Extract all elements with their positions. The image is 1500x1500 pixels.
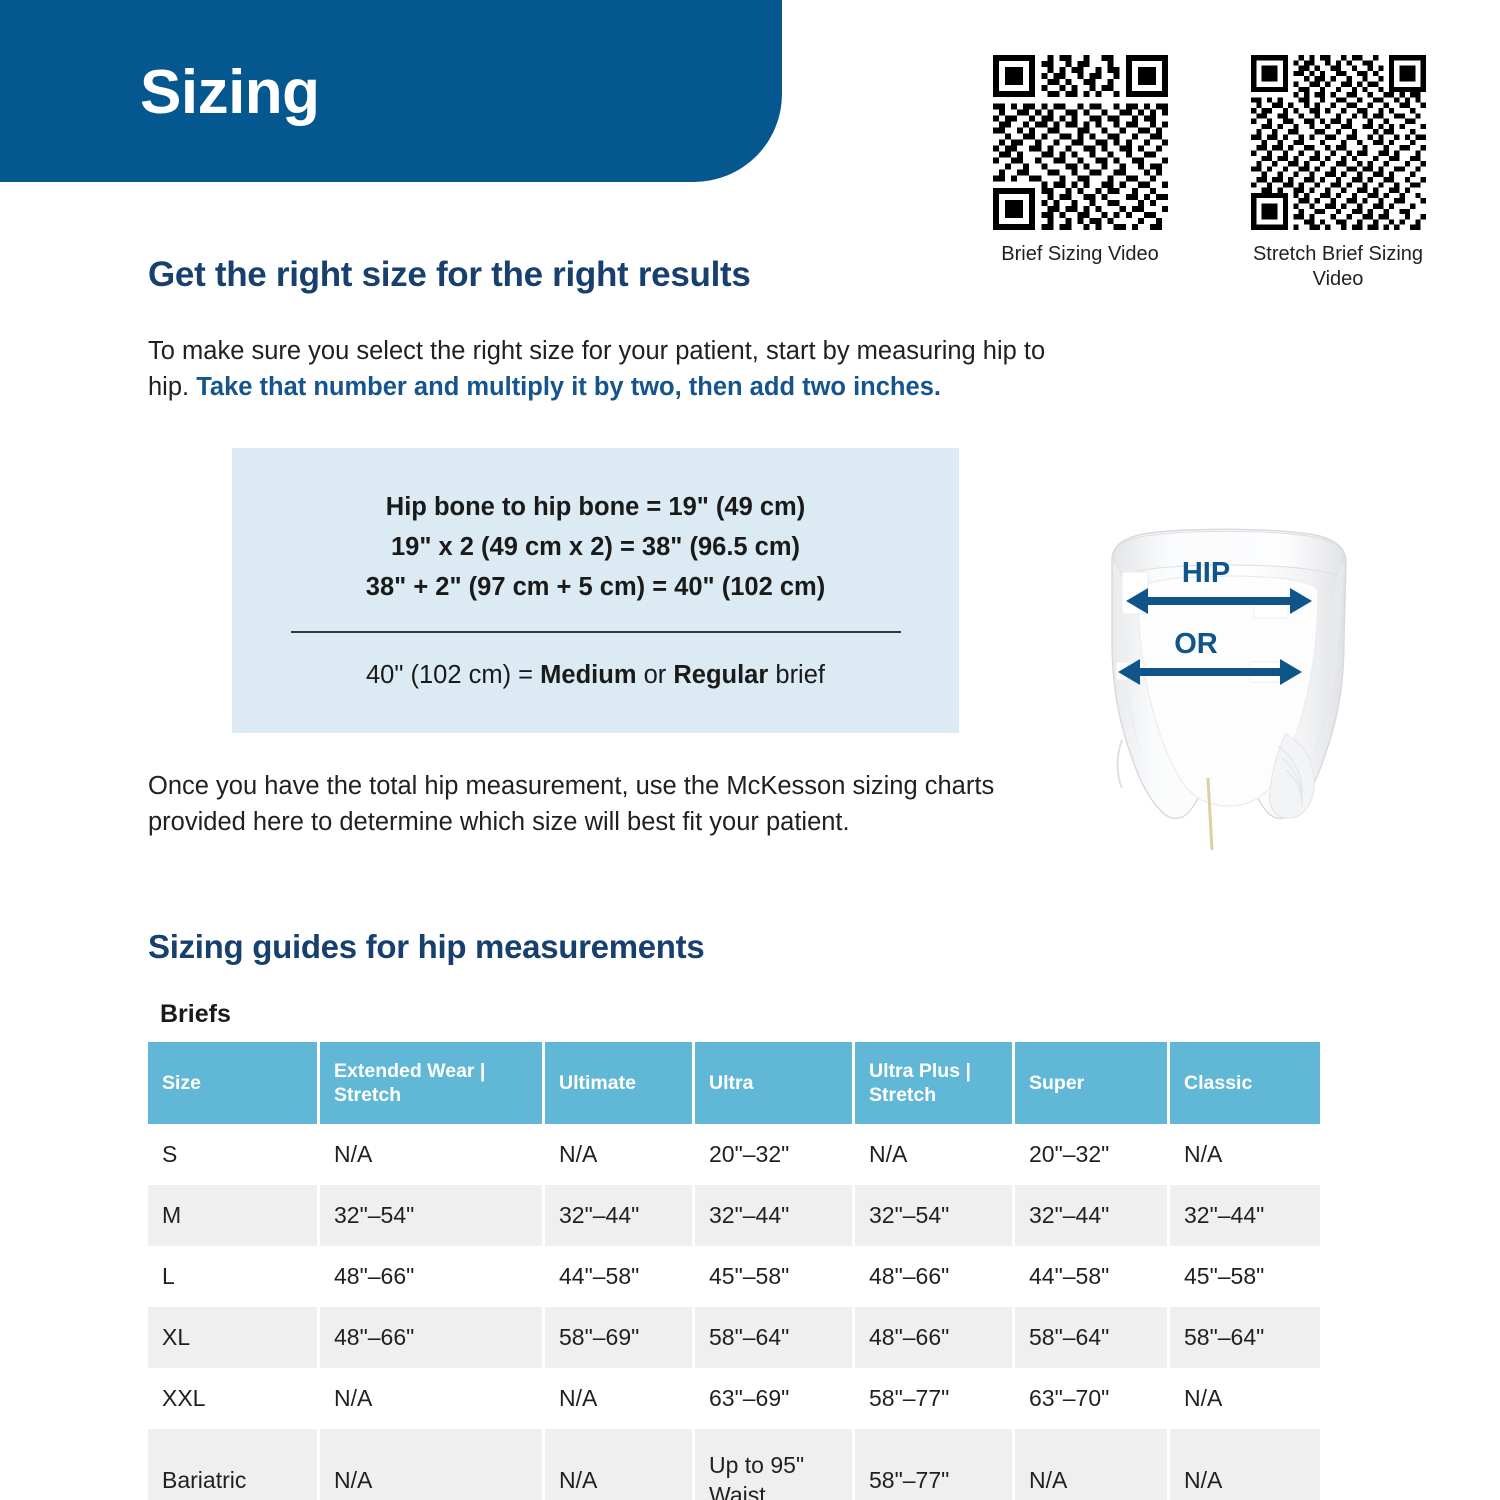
intro-paragraph: To make sure you select the right size f… bbox=[148, 333, 1078, 405]
calc-result-suffix: brief bbox=[768, 661, 825, 689]
cell-extended-wear: 48"–66" bbox=[320, 1307, 545, 1368]
brief-product-image: HIP OR bbox=[1078, 520, 1378, 900]
column-header-ultra: Ultra bbox=[695, 1042, 855, 1124]
cell-ultra-plus: 58"–77" bbox=[855, 1429, 1015, 1500]
or-label: OR bbox=[1174, 628, 1218, 660]
cell-ultimate: N/A bbox=[545, 1124, 695, 1185]
calc-line-2: 19" x 2 (49 cm x 2) = 38" (96.5 cm) bbox=[232, 528, 959, 568]
cell-size: L bbox=[148, 1246, 320, 1307]
cell-ultimate: 32"–44" bbox=[545, 1185, 695, 1246]
calc-line-1: Hip bone to hip bone = 19" (49 cm) bbox=[232, 488, 959, 528]
table-row: S N/A N/A 20"–32" N/A 20"–32" N/A bbox=[148, 1124, 1320, 1185]
calc-result-conjunction: or bbox=[637, 661, 674, 689]
cell-ultimate: 44"–58" bbox=[545, 1246, 695, 1307]
cell-ultra-plus: 48"–66" bbox=[855, 1307, 1015, 1368]
cell-extended-wear: N/A bbox=[320, 1124, 545, 1185]
cell-super: 20"–32" bbox=[1015, 1124, 1170, 1185]
header-banner: Sizing bbox=[0, 0, 782, 182]
table-row: Bariatric N/A N/A Up to 95" Waist 58"–77… bbox=[148, 1429, 1320, 1500]
cell-classic: N/A bbox=[1170, 1124, 1320, 1185]
cell-classic: 32"–44" bbox=[1170, 1185, 1320, 1246]
qr-code-icon bbox=[993, 55, 1168, 230]
cell-size: S bbox=[148, 1124, 320, 1185]
cell-size: XXL bbox=[148, 1368, 320, 1429]
calc-divider bbox=[291, 631, 901, 633]
cell-ultra-plus: 32"–54" bbox=[855, 1185, 1015, 1246]
calc-result-line: 40" (102 cm) = Medium or Regular brief bbox=[232, 661, 959, 690]
hip-label: HIP bbox=[1182, 557, 1230, 589]
column-header-classic-line1: Classic bbox=[1184, 1072, 1252, 1094]
section-heading-get-right-size: Get the right size for the right results bbox=[148, 255, 751, 295]
column-header-extended-wear-line2: Stretch bbox=[334, 1084, 401, 1106]
column-header-super-line1: Super bbox=[1029, 1072, 1084, 1094]
cell-extended-wear: N/A bbox=[320, 1429, 545, 1500]
cell-ultra: 63"–69" bbox=[695, 1368, 855, 1429]
cell-super: 44"–58" bbox=[1015, 1246, 1170, 1307]
brief-leg-elastic-left bbox=[1118, 740, 1123, 788]
qr-block-brief-sizing-video[interactable]: Brief Sizing Video bbox=[985, 55, 1175, 292]
table-header-row: Size Extended Wear |Stretch Ultimate Ult… bbox=[148, 1042, 1320, 1124]
column-header-ultra-plus: Ultra Plus |Stretch bbox=[855, 1042, 1015, 1124]
cell-super: N/A bbox=[1015, 1429, 1170, 1500]
cell-ultimate: N/A bbox=[545, 1368, 695, 1429]
calc-result-size-medium: Medium bbox=[540, 661, 636, 689]
intro-paragraph-accent: Take that number and multiply it by two,… bbox=[196, 373, 941, 401]
column-header-size: Size bbox=[148, 1042, 320, 1124]
calc-result-size-regular: Regular bbox=[673, 661, 768, 689]
column-header-super: Super bbox=[1015, 1042, 1170, 1124]
cell-size: Bariatric bbox=[148, 1429, 320, 1500]
cell-ultra-plus: N/A bbox=[855, 1124, 1015, 1185]
table-row: XL 48"–66" 58"–69" 58"–64" 48"–66" 58"–6… bbox=[148, 1307, 1320, 1368]
column-header-extended-wear-line1: Extended Wear | bbox=[334, 1060, 485, 1082]
column-header-ultra-plus-line1: Ultra Plus | bbox=[869, 1060, 971, 1082]
column-header-classic: Classic bbox=[1170, 1042, 1320, 1124]
product-brief-illustration: HIP OR bbox=[1078, 520, 1378, 900]
table-row: M 32"–54" 32"–44" 32"–44" 32"–54" 32"–44… bbox=[148, 1185, 1320, 1246]
cell-super: 63"–70" bbox=[1015, 1368, 1170, 1429]
section-heading-sizing-guides: Sizing guides for hip measurements bbox=[148, 928, 704, 966]
body-paragraph: Once you have the total hip measurement,… bbox=[148, 768, 1028, 840]
cell-ultra: 45"–58" bbox=[695, 1246, 855, 1307]
calc-line-3: 38" + 2" (97 cm + 5 cm) = 40" (102 cm) bbox=[232, 568, 959, 608]
column-header-ultimate: Ultimate bbox=[545, 1042, 695, 1124]
cell-size: M bbox=[148, 1185, 320, 1246]
cell-ultimate: 58"–69" bbox=[545, 1307, 695, 1368]
cell-ultra: 58"–64" bbox=[695, 1307, 855, 1368]
cell-super: 58"–64" bbox=[1015, 1307, 1170, 1368]
cell-extended-wear: 48"–66" bbox=[320, 1246, 545, 1307]
cell-ultra-plus: 48"–66" bbox=[855, 1246, 1015, 1307]
column-header-size-line1: Size bbox=[162, 1072, 201, 1094]
calc-result-prefix: 40" (102 cm) = bbox=[366, 661, 540, 689]
qr-code-icon bbox=[1251, 55, 1426, 230]
table-label-briefs: Briefs bbox=[160, 1000, 231, 1029]
qr-caption: Brief Sizing Video bbox=[1001, 242, 1159, 267]
cell-ultra: Up to 95" Waist bbox=[695, 1429, 855, 1500]
table-row: XXL N/A N/A 63"–69" 58"–77" 63"–70" N/A bbox=[148, 1368, 1320, 1429]
cell-ultimate: N/A bbox=[545, 1429, 695, 1500]
column-header-ultra-plus-line2: Stretch bbox=[869, 1084, 936, 1106]
sizing-guide-page: Sizing bbox=[0, 0, 1500, 1500]
cell-ultra-plus: 58"–77" bbox=[855, 1368, 1015, 1429]
column-header-extended-wear: Extended Wear |Stretch bbox=[320, 1042, 545, 1124]
cell-extended-wear: N/A bbox=[320, 1368, 545, 1429]
cell-classic: N/A bbox=[1170, 1368, 1320, 1429]
table-body: S N/A N/A 20"–32" N/A 20"–32" N/A M 32"–… bbox=[148, 1124, 1320, 1500]
qr-block-stretch-brief-sizing-video[interactable]: Stretch Brief Sizing Video bbox=[1243, 55, 1433, 292]
briefs-sizing-table: Size Extended Wear |Stretch Ultimate Ult… bbox=[148, 1042, 1320, 1500]
page-title: Sizing bbox=[140, 62, 320, 124]
cell-classic: 45"–58" bbox=[1170, 1246, 1320, 1307]
cell-extended-wear: 32"–54" bbox=[320, 1185, 545, 1246]
calculation-example-box: Hip bone to hip bone = 19" (49 cm) 19" x… bbox=[232, 448, 959, 733]
column-header-ultra-line1: Ultra bbox=[709, 1072, 753, 1094]
cell-super: 32"–44" bbox=[1015, 1185, 1170, 1246]
qr-code-group: Brief Sizing Video bbox=[985, 55, 1465, 292]
cell-classic: 58"–64" bbox=[1170, 1307, 1320, 1368]
cell-classic: N/A bbox=[1170, 1429, 1320, 1500]
cell-ultra: 20"–32" bbox=[695, 1124, 855, 1185]
table-header: Size Extended Wear |Stretch Ultimate Ult… bbox=[148, 1042, 1320, 1124]
table-row: L 48"–66" 44"–58" 45"–58" 48"–66" 44"–58… bbox=[148, 1246, 1320, 1307]
qr-caption: Stretch Brief Sizing Video bbox=[1243, 242, 1433, 292]
cell-size: XL bbox=[148, 1307, 320, 1368]
cell-ultra: 32"–44" bbox=[695, 1185, 855, 1246]
column-header-ultimate-line1: Ultimate bbox=[559, 1072, 636, 1094]
